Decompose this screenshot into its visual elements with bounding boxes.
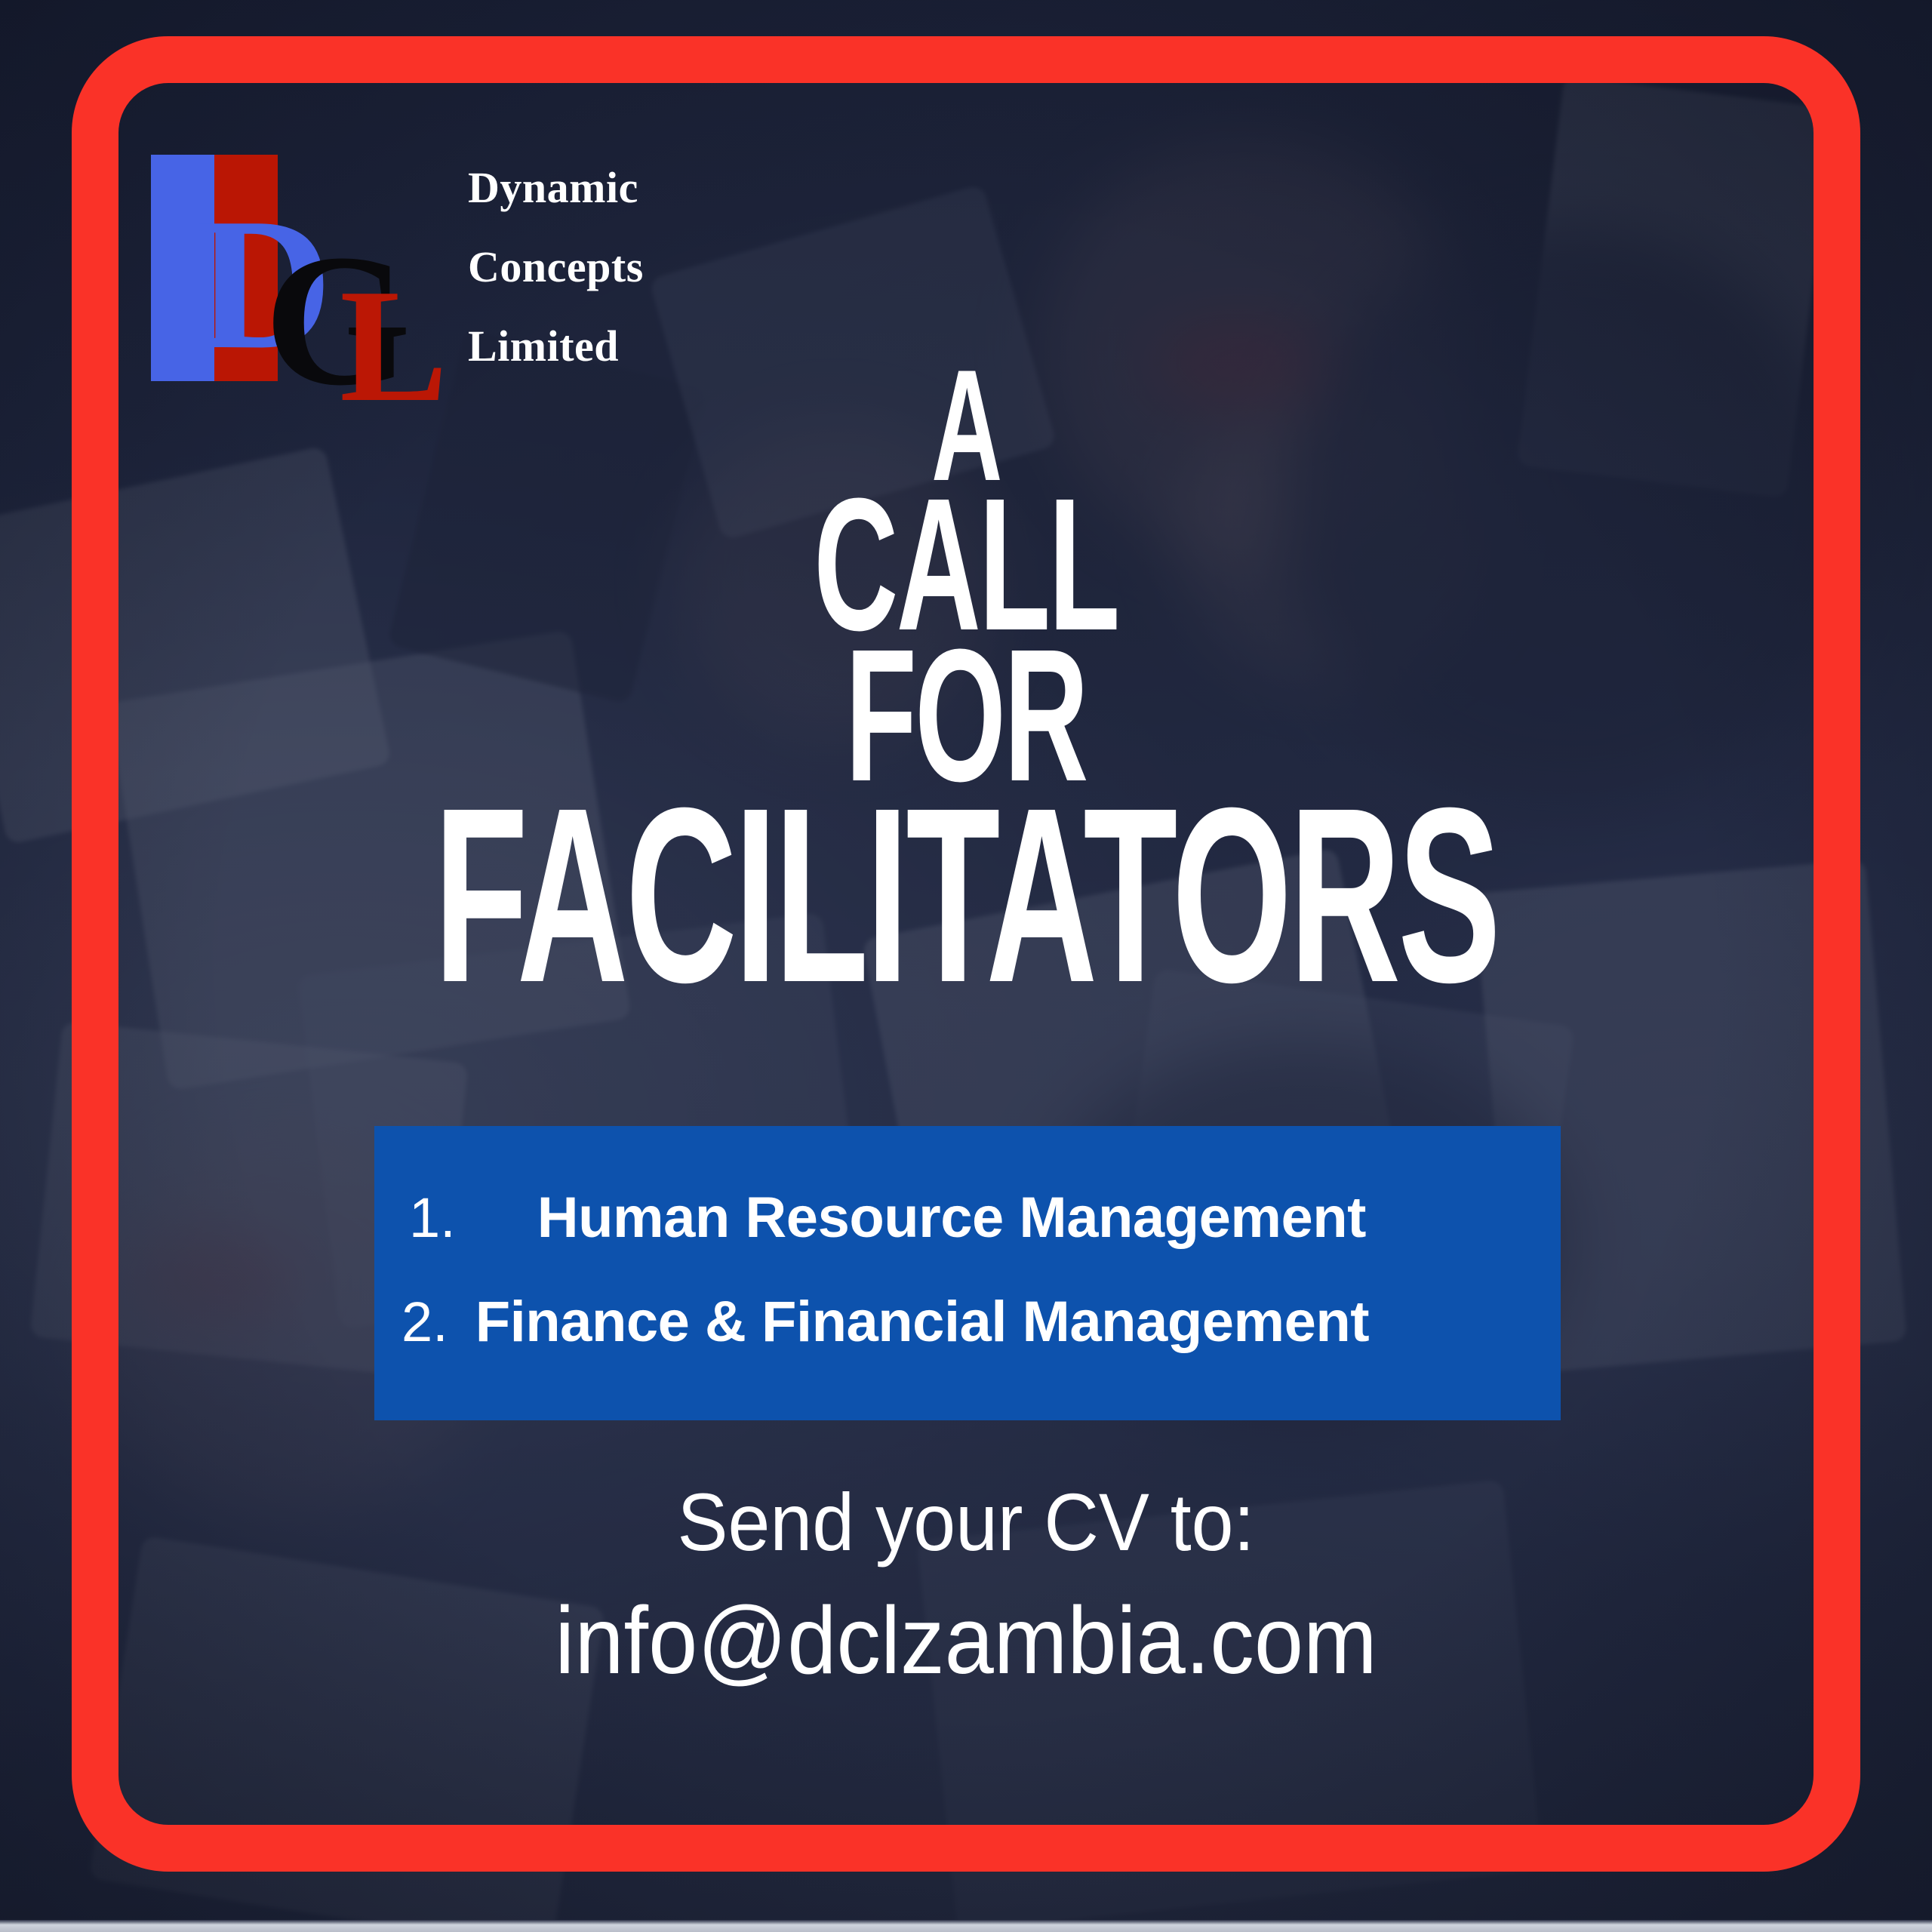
bottom-edge-strip (0, 1920, 1932, 1932)
headline-line-4: FACILITATORS (367, 795, 1564, 995)
topics-list-box: 1. Human Resource Management 2. Finance … (374, 1126, 1561, 1420)
list-item-label: Human Resource Management (537, 1189, 1366, 1247)
cta-prompt: Send your CV to: (68, 1481, 1865, 1564)
poster-canvas: D G L Dynamic Concepts Limited A CALL FO… (0, 0, 1932, 1932)
list-item: 1. Human Resource Management (374, 1189, 1561, 1247)
list-item-label: Finance & Financial Management (475, 1294, 1369, 1351)
company-name-line-2: Concepts (468, 227, 644, 306)
headline: A CALL FOR FACILITATORS (0, 362, 1932, 995)
list-item-number: 1. (409, 1190, 456, 1246)
list-item-number: 2. (401, 1294, 448, 1350)
cta-email[interactable]: info@dclzambia.com (68, 1589, 1865, 1692)
cta-block: Send your CV to: info@dclzambia.com (0, 1481, 1932, 1692)
list-item: 2. Finance & Financial Management (374, 1294, 1561, 1351)
company-name: Dynamic Concepts Limited (468, 148, 644, 386)
company-name-line-1: Dynamic (468, 148, 644, 227)
